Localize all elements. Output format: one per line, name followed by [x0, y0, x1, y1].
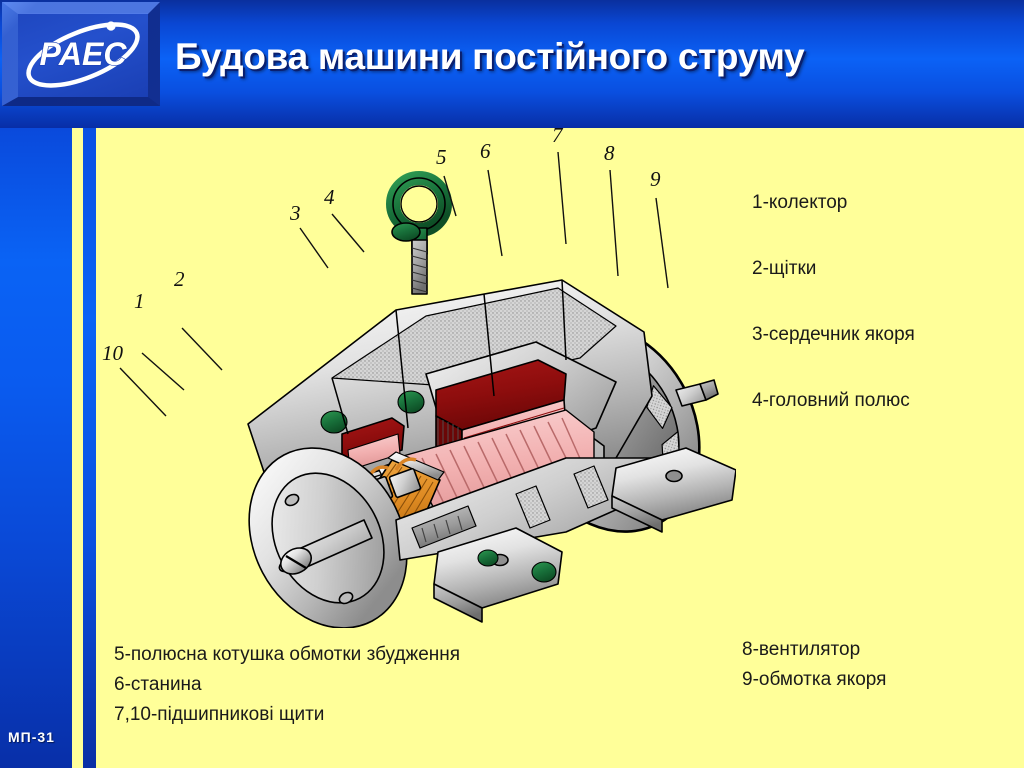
callout-8: 8	[604, 141, 615, 165]
callout-4: 4	[324, 185, 335, 209]
logo-plaque: РАЕС	[2, 2, 160, 106]
callout-7: 7	[552, 128, 564, 147]
legend-bottom-right-column: 8-вентилятор 9-обмотка якоря	[742, 635, 1022, 695]
header-bar: РАЕС Будова машини постійного струму	[0, 0, 1024, 128]
sidebar-blue-stripe	[83, 125, 96, 768]
slide-root: РАЕС Будова машини постійного струму МП-…	[0, 0, 1024, 768]
dc-machine-cutaway-illustration: 1 2 3 4 5 6 7 8 9 10	[96, 128, 736, 628]
lifting-eyebolt	[392, 178, 445, 294]
legend-item-6: 6-станина	[114, 670, 674, 700]
legend-item-9: 9-обмотка якоря	[742, 665, 1022, 695]
legend-item-2: 2-щітки	[752, 258, 1024, 280]
legend-item-1: 1-колектор	[752, 192, 1024, 214]
legend-right-column: 1-колектор 2-щітки 3-сердечник якоря 4-г…	[752, 192, 1024, 456]
footer-group-tag: МП-31	[8, 729, 55, 745]
sidebar-yellow-stripe	[72, 125, 83, 768]
callout-3: 3	[289, 201, 301, 225]
legend-item-4: 4-головний полюс	[752, 390, 1024, 412]
logo-bevel	[2, 2, 160, 106]
callout-9: 9	[650, 167, 661, 191]
callout-10: 10	[102, 341, 124, 365]
callout-5: 5	[436, 145, 447, 169]
callout-6: 6	[480, 139, 491, 163]
callout-1: 1	[134, 289, 145, 313]
legend-item-8: 8-вентилятор	[742, 635, 1022, 665]
legend-bottom-left-column: 5-полюсна котушка обмотки збудження 6-ст…	[114, 640, 674, 730]
dc-machine-svg: 1 2 3 4 5 6 7 8 9 10	[96, 128, 736, 628]
machine-body	[219, 178, 736, 628]
legend-item-7-10: 7,10-підшипникові щити	[114, 700, 674, 730]
legend-item-5: 5-полюсна котушка обмотки збудження	[114, 640, 674, 670]
page-title: Будова машини постійного струму	[175, 36, 1015, 78]
callout-2: 2	[174, 267, 185, 291]
foot-bolt-hole-rear	[666, 471, 682, 482]
legend-item-3: 3-сердечник якоря	[752, 324, 1024, 346]
